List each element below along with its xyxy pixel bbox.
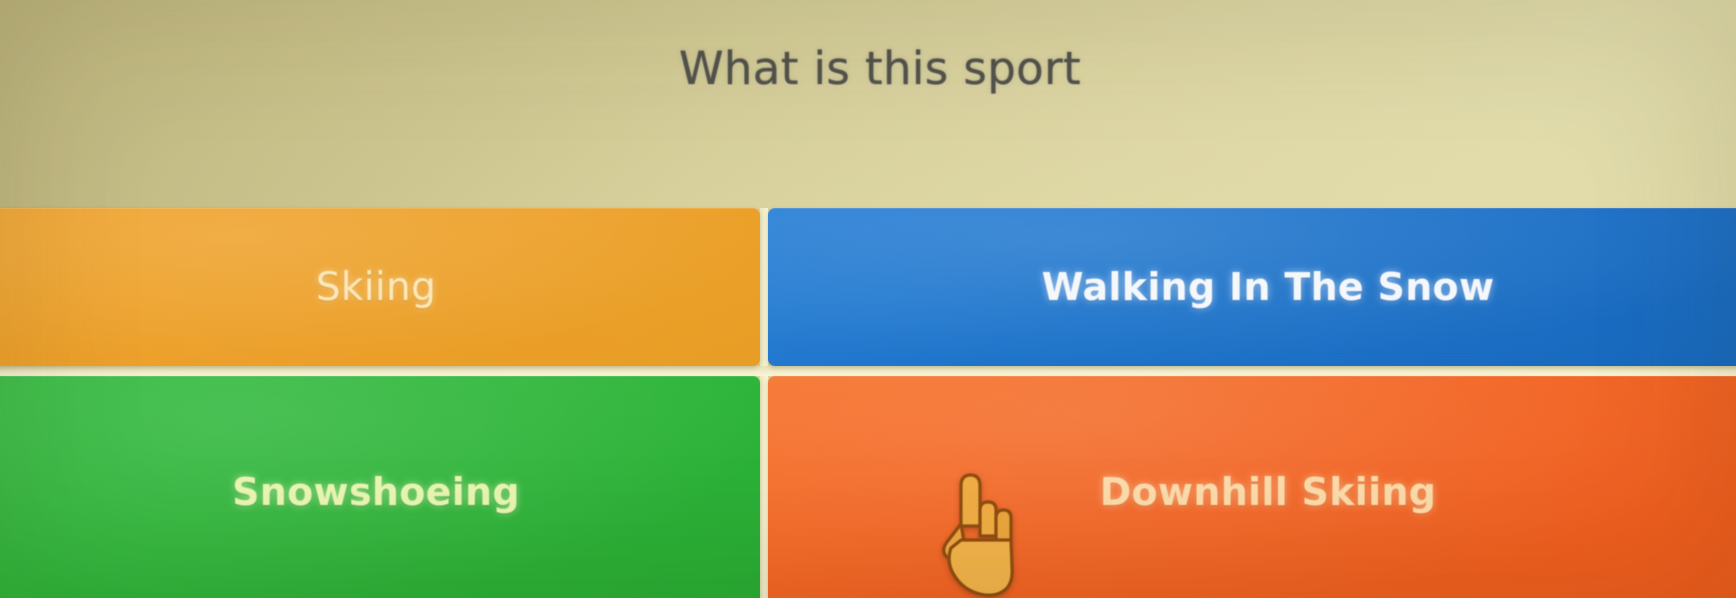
answer-option-label: Downhill Skiing xyxy=(1100,470,1437,514)
answer-option-label: Walking In The Snow xyxy=(1042,265,1495,309)
question-area: What is this sport xyxy=(0,0,1736,208)
answer-option-label: Skiing xyxy=(316,265,436,310)
answer-option-label: Snowshoeing xyxy=(232,470,520,514)
page-title: What is this sport xyxy=(0,42,1736,95)
answer-option-walking-in-the-snow[interactable]: Walking In The Snow xyxy=(768,208,1736,366)
quiz-screen: What is this sport Skiing Walking In The… xyxy=(0,0,1736,598)
column-seam-bottom xyxy=(760,376,768,598)
column-seam-top xyxy=(760,208,768,366)
row-seam xyxy=(0,366,1736,376)
answer-option-downhill-skiing[interactable]: Downhill Skiing xyxy=(768,376,1736,598)
answer-option-skiing[interactable]: Skiing xyxy=(0,208,760,366)
answer-options-grid: Skiing Walking In The Snow Snowshoeing D… xyxy=(0,208,1736,598)
answer-option-snowshoeing[interactable]: Snowshoeing xyxy=(0,376,760,598)
